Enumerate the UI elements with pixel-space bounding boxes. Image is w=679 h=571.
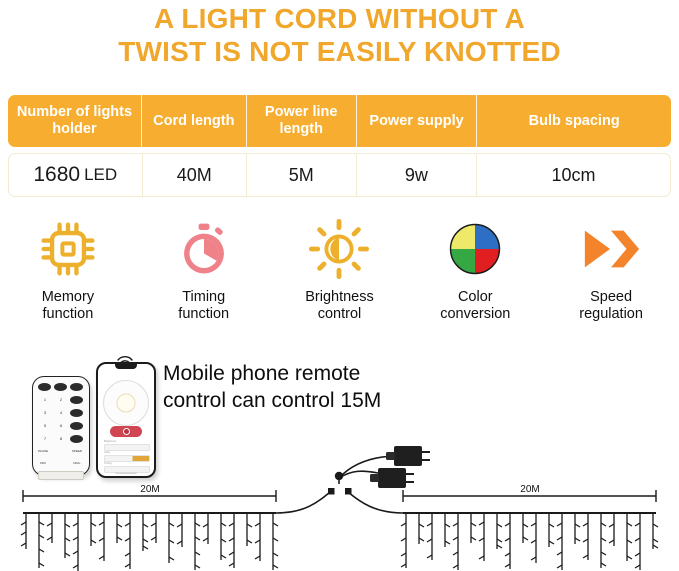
- app-color-dial[interactable]: [103, 380, 149, 426]
- splitter-terminal-right: [345, 488, 352, 495]
- spec-header-cell-power-supply: Power supply: [357, 95, 478, 147]
- feature-color-conversion: Color conversion: [407, 213, 543, 323]
- feature-memory-function: Memory function: [0, 213, 136, 323]
- phone-notch: [115, 364, 137, 369]
- spec-value-lights-holder-unit: LED: [84, 165, 117, 185]
- feature-brightness-control-label: Brightness control: [305, 289, 374, 323]
- phone-caption-text: Mobile phone remote control can control …: [163, 360, 463, 414]
- light-string-diagram: 20M 20M: [0, 440, 679, 571]
- left-curtain-group: [21, 490, 278, 571]
- spec-value-power-supply: 9w: [357, 154, 477, 196]
- memory-chip-icon: [38, 213, 98, 285]
- right-curtain-group: [401, 490, 658, 570]
- remote-button-on[interactable]: [38, 383, 51, 391]
- feature-color-conversion-label: Color conversion: [440, 289, 510, 323]
- color-wheel-icon: [446, 213, 504, 285]
- feature-brightness-control: Brightness control: [272, 213, 408, 323]
- feature-speed-regulation-label: Speed regulation: [579, 289, 643, 323]
- remote-number-2: 2: [55, 397, 67, 402]
- app-power-button[interactable]: [110, 426, 142, 437]
- title-line-1: A LIGHT CORD WITHOUT A: [0, 2, 679, 35]
- remote-side-button-mode[interactable]: [70, 422, 83, 430]
- power-icon: [123, 428, 130, 435]
- spec-value-power-line-length: 5M: [247, 154, 357, 196]
- feature-timing-function: Timing function: [136, 213, 272, 323]
- stopwatch-timer-icon: [175, 213, 233, 285]
- spec-header-cell-cord-length: Cord length: [142, 95, 247, 147]
- remote-side-button-diy[interactable]: [70, 396, 83, 404]
- feature-speed-regulation: Speed regulation: [543, 213, 679, 323]
- title-line-2: TWIST IS NOT EASILY KNOTTED: [0, 35, 679, 68]
- left-drop-strands: [21, 513, 278, 571]
- power-adapter-lower: [370, 468, 414, 488]
- brightness-sun-icon: [308, 213, 370, 285]
- spec-header-cell-bulb-spacing: Bulb spacing: [477, 95, 671, 147]
- remote-number-5: 5: [39, 423, 51, 428]
- remote-number-1: 1: [39, 397, 51, 402]
- left-span-label: 20M: [140, 484, 159, 495]
- remote-number-3: 3: [39, 410, 51, 415]
- spec-value-lights-holder-number: 1680: [33, 163, 80, 187]
- spec-table-header-row: Number of lights holder Cord length Powe…: [8, 95, 671, 147]
- right-drop-strands: [401, 513, 658, 570]
- spec-value-bulb-spacing: 10cm: [477, 154, 670, 196]
- spec-table-value-row: 1680 LED 40M 5M 9w 10cm: [8, 153, 671, 197]
- remote-button-mode[interactable]: [70, 383, 83, 391]
- app-dial-center[interactable]: [117, 394, 136, 413]
- spec-header-cell-power-line-length: Power line length: [247, 95, 357, 147]
- feature-icon-row: Memory function Timing function: [0, 213, 679, 323]
- spec-value-lights-holder: 1680 LED: [9, 154, 143, 196]
- remote-side-button-set[interactable]: [70, 409, 83, 417]
- spec-value-cord-length: 40M: [143, 154, 247, 196]
- feature-timing-function-label: Timing function: [178, 289, 229, 323]
- left-lead-wire: [276, 492, 330, 513]
- remote-number-6: 6: [55, 423, 67, 428]
- page-title: A LIGHT CORD WITHOUT A TWIST IS NOT EASI…: [0, 2, 679, 68]
- right-span-label: 20M: [520, 484, 539, 495]
- specification-table: Number of lights holder Cord length Powe…: [8, 95, 671, 197]
- splitter-terminal-left: [328, 488, 335, 495]
- remote-button-off[interactable]: [54, 383, 67, 391]
- double-chevron-speed-icon: [580, 213, 642, 285]
- remote-number-4: 4: [55, 410, 67, 415]
- feature-memory-function-label: Memory function: [42, 289, 94, 323]
- right-lead-wire: [348, 492, 403, 513]
- power-adapter-upper: [386, 446, 430, 466]
- spec-header-cell-lights-holder: Number of lights holder: [8, 95, 142, 147]
- splitter-node: [335, 472, 343, 480]
